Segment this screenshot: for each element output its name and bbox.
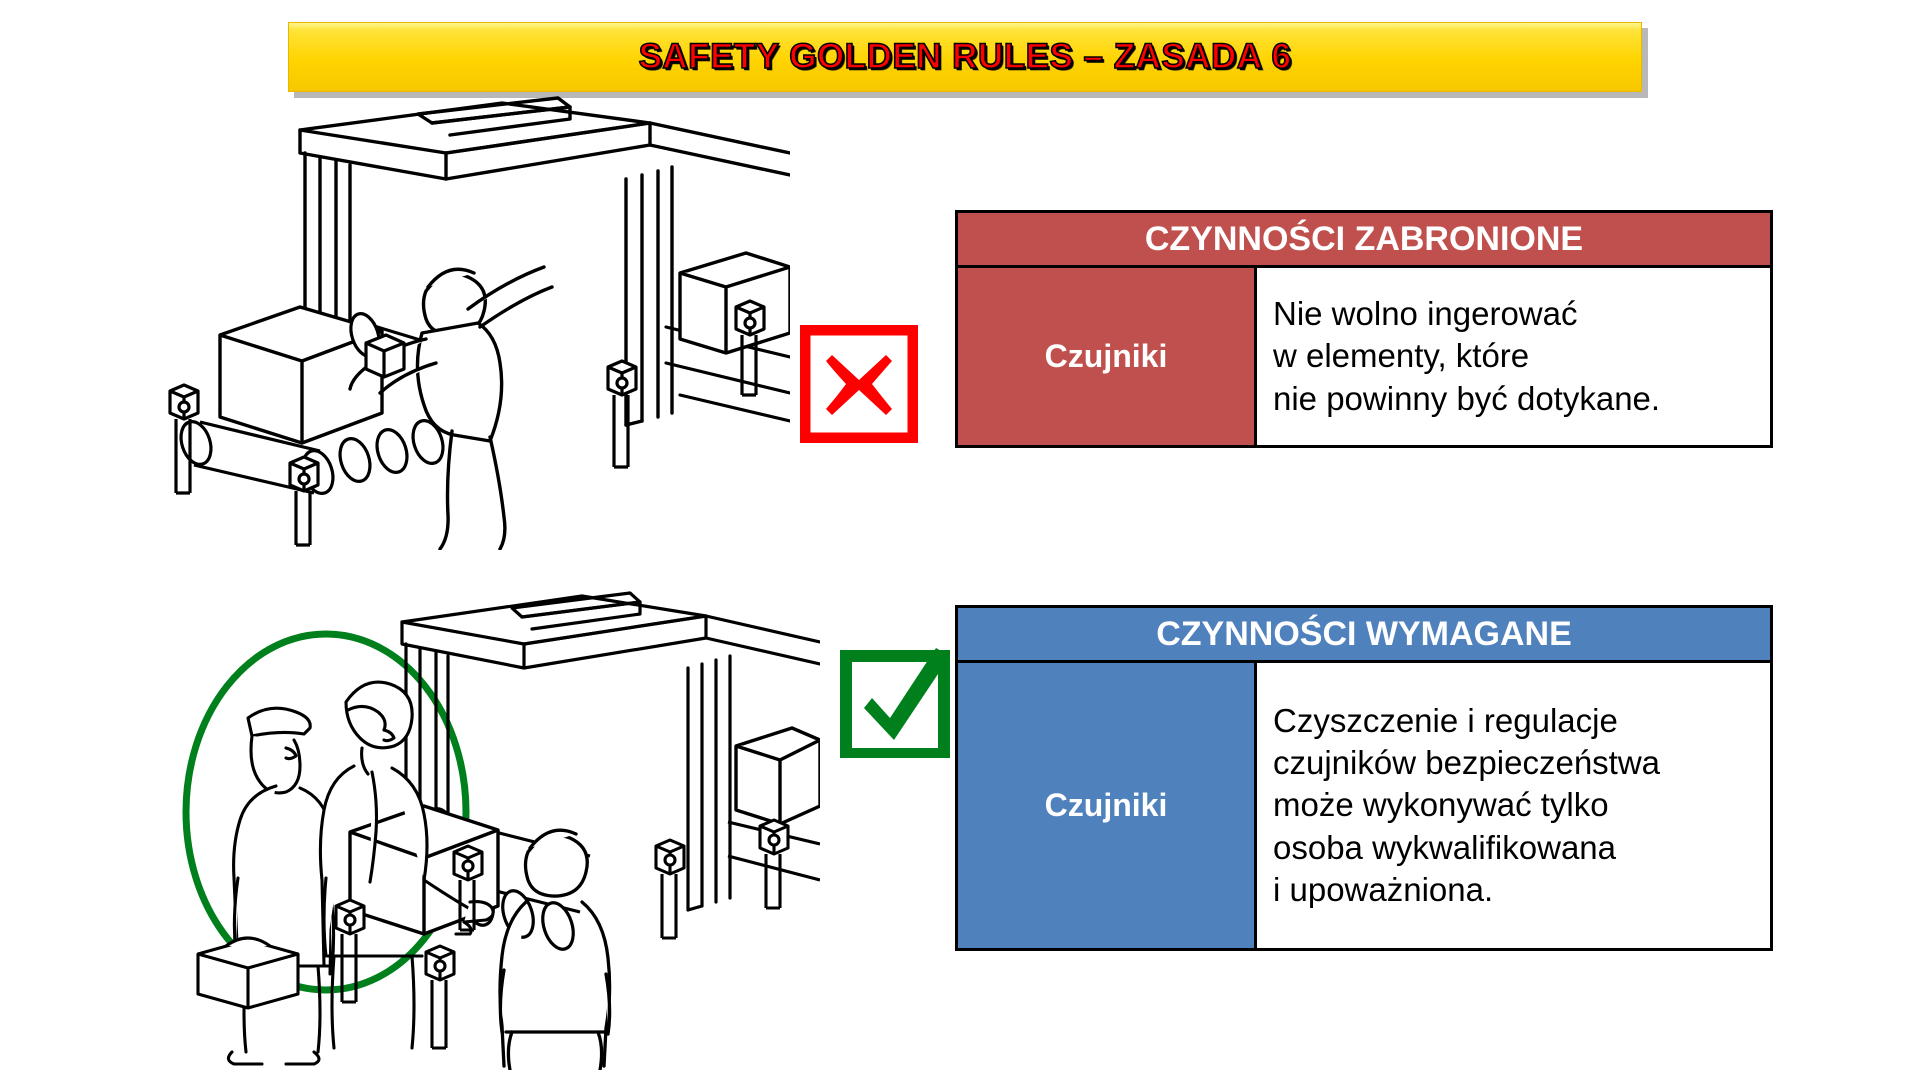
page-title: SAFETY GOLDEN RULES – ZASADA 6 [289,37,1641,77]
illustration-forbidden-scene [150,95,790,550]
table-forbidden-description: Nie wolno ingerować w elementy, które ni… [1257,268,1773,448]
desc-line: nie powinny być dotykane. [1273,378,1760,420]
table-required-description: Czyszczenie i regulacje czujników bezpie… [1257,663,1773,951]
desc-line: czujników bezpieczeństwa [1273,742,1760,784]
title-banner: SAFETY GOLDEN RULES – ZASADA 6 [288,22,1642,92]
banner-bevel [289,23,1641,30]
green-check-icon [840,640,958,758]
table-forbidden: CZYNNOŚCI ZABRONIONE Czujniki Nie wolno … [955,210,1773,448]
table-forbidden-header: CZYNNOŚCI ZABRONIONE [955,210,1773,268]
table-required-header: CZYNNOŚCI WYMAGANE [955,605,1773,663]
table-required-label: Czujniki [955,663,1257,951]
desc-line: Czyszczenie i regulacje [1273,700,1760,742]
desc-line: i upoważniona. [1273,869,1760,911]
red-cross-icon [800,325,918,443]
table-forbidden-body: Czujniki Nie wolno ingerować w elementy,… [955,268,1773,448]
table-required-body: Czujniki Czyszczenie i regulacje czujnik… [955,663,1773,951]
table-forbidden-label: Czujniki [955,268,1257,448]
illustration-required-scene [140,590,820,1070]
desc-line: może wykonywać tylko [1273,784,1760,826]
desc-line: osoba wykwalifikowana [1273,827,1760,869]
desc-line: w elementy, które [1273,335,1760,377]
table-required: CZYNNOŚCI WYMAGANE Czujniki Czyszczenie … [955,605,1773,951]
desc-line: Nie wolno ingerować [1273,293,1760,335]
